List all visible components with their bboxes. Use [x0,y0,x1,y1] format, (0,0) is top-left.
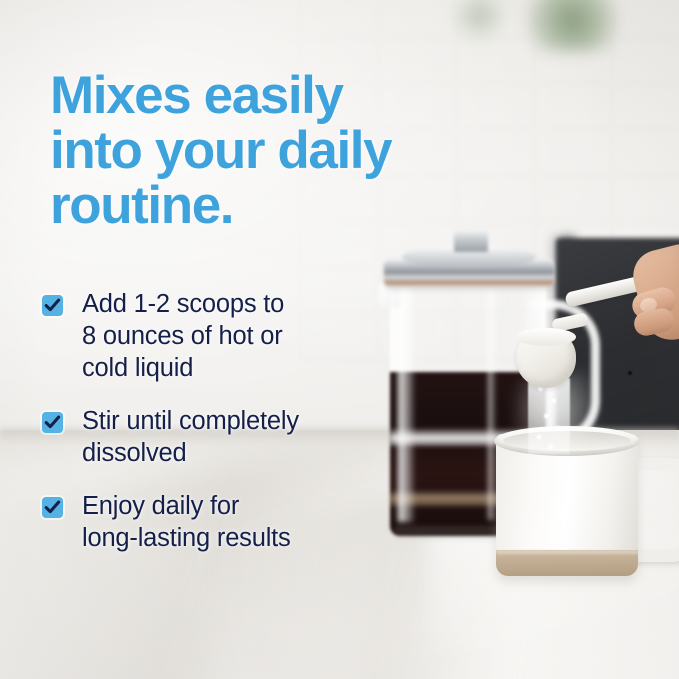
headline-line-3: routine. [50,178,520,233]
bullet-line: long-lasting results [82,522,392,554]
headline-line-1: Mixes easily [50,68,520,123]
headline-line-2: into your daily [50,123,520,178]
page-title: Mixes easily into your daily routine. [50,68,520,233]
promotional-image: Mixes easily into your daily routine. Ad… [0,0,679,679]
checkbox-checked-icon [42,497,63,518]
instruction-list: Add 1-2 scoops to 8 ounces of hot or col… [42,288,392,554]
checkbox-checked-icon [42,295,63,316]
text-overlay: Mixes easily into your daily routine. Ad… [0,0,679,679]
bullet-line: Stir until completely [82,405,392,437]
bullet-line: cold liquid [82,352,392,384]
bullet-line: 8 ounces of hot or [82,320,392,352]
checkbox-checked-icon [42,412,63,433]
bullet-line: dissolved [82,437,392,469]
list-item: Stir until completely dissolved [42,405,392,469]
list-item: Add 1-2 scoops to 8 ounces of hot or col… [42,288,392,384]
bullet-line: Add 1-2 scoops to [82,288,392,320]
bullet-line: Enjoy daily for [82,490,392,522]
list-item: Enjoy daily for long-lasting results [42,490,392,554]
